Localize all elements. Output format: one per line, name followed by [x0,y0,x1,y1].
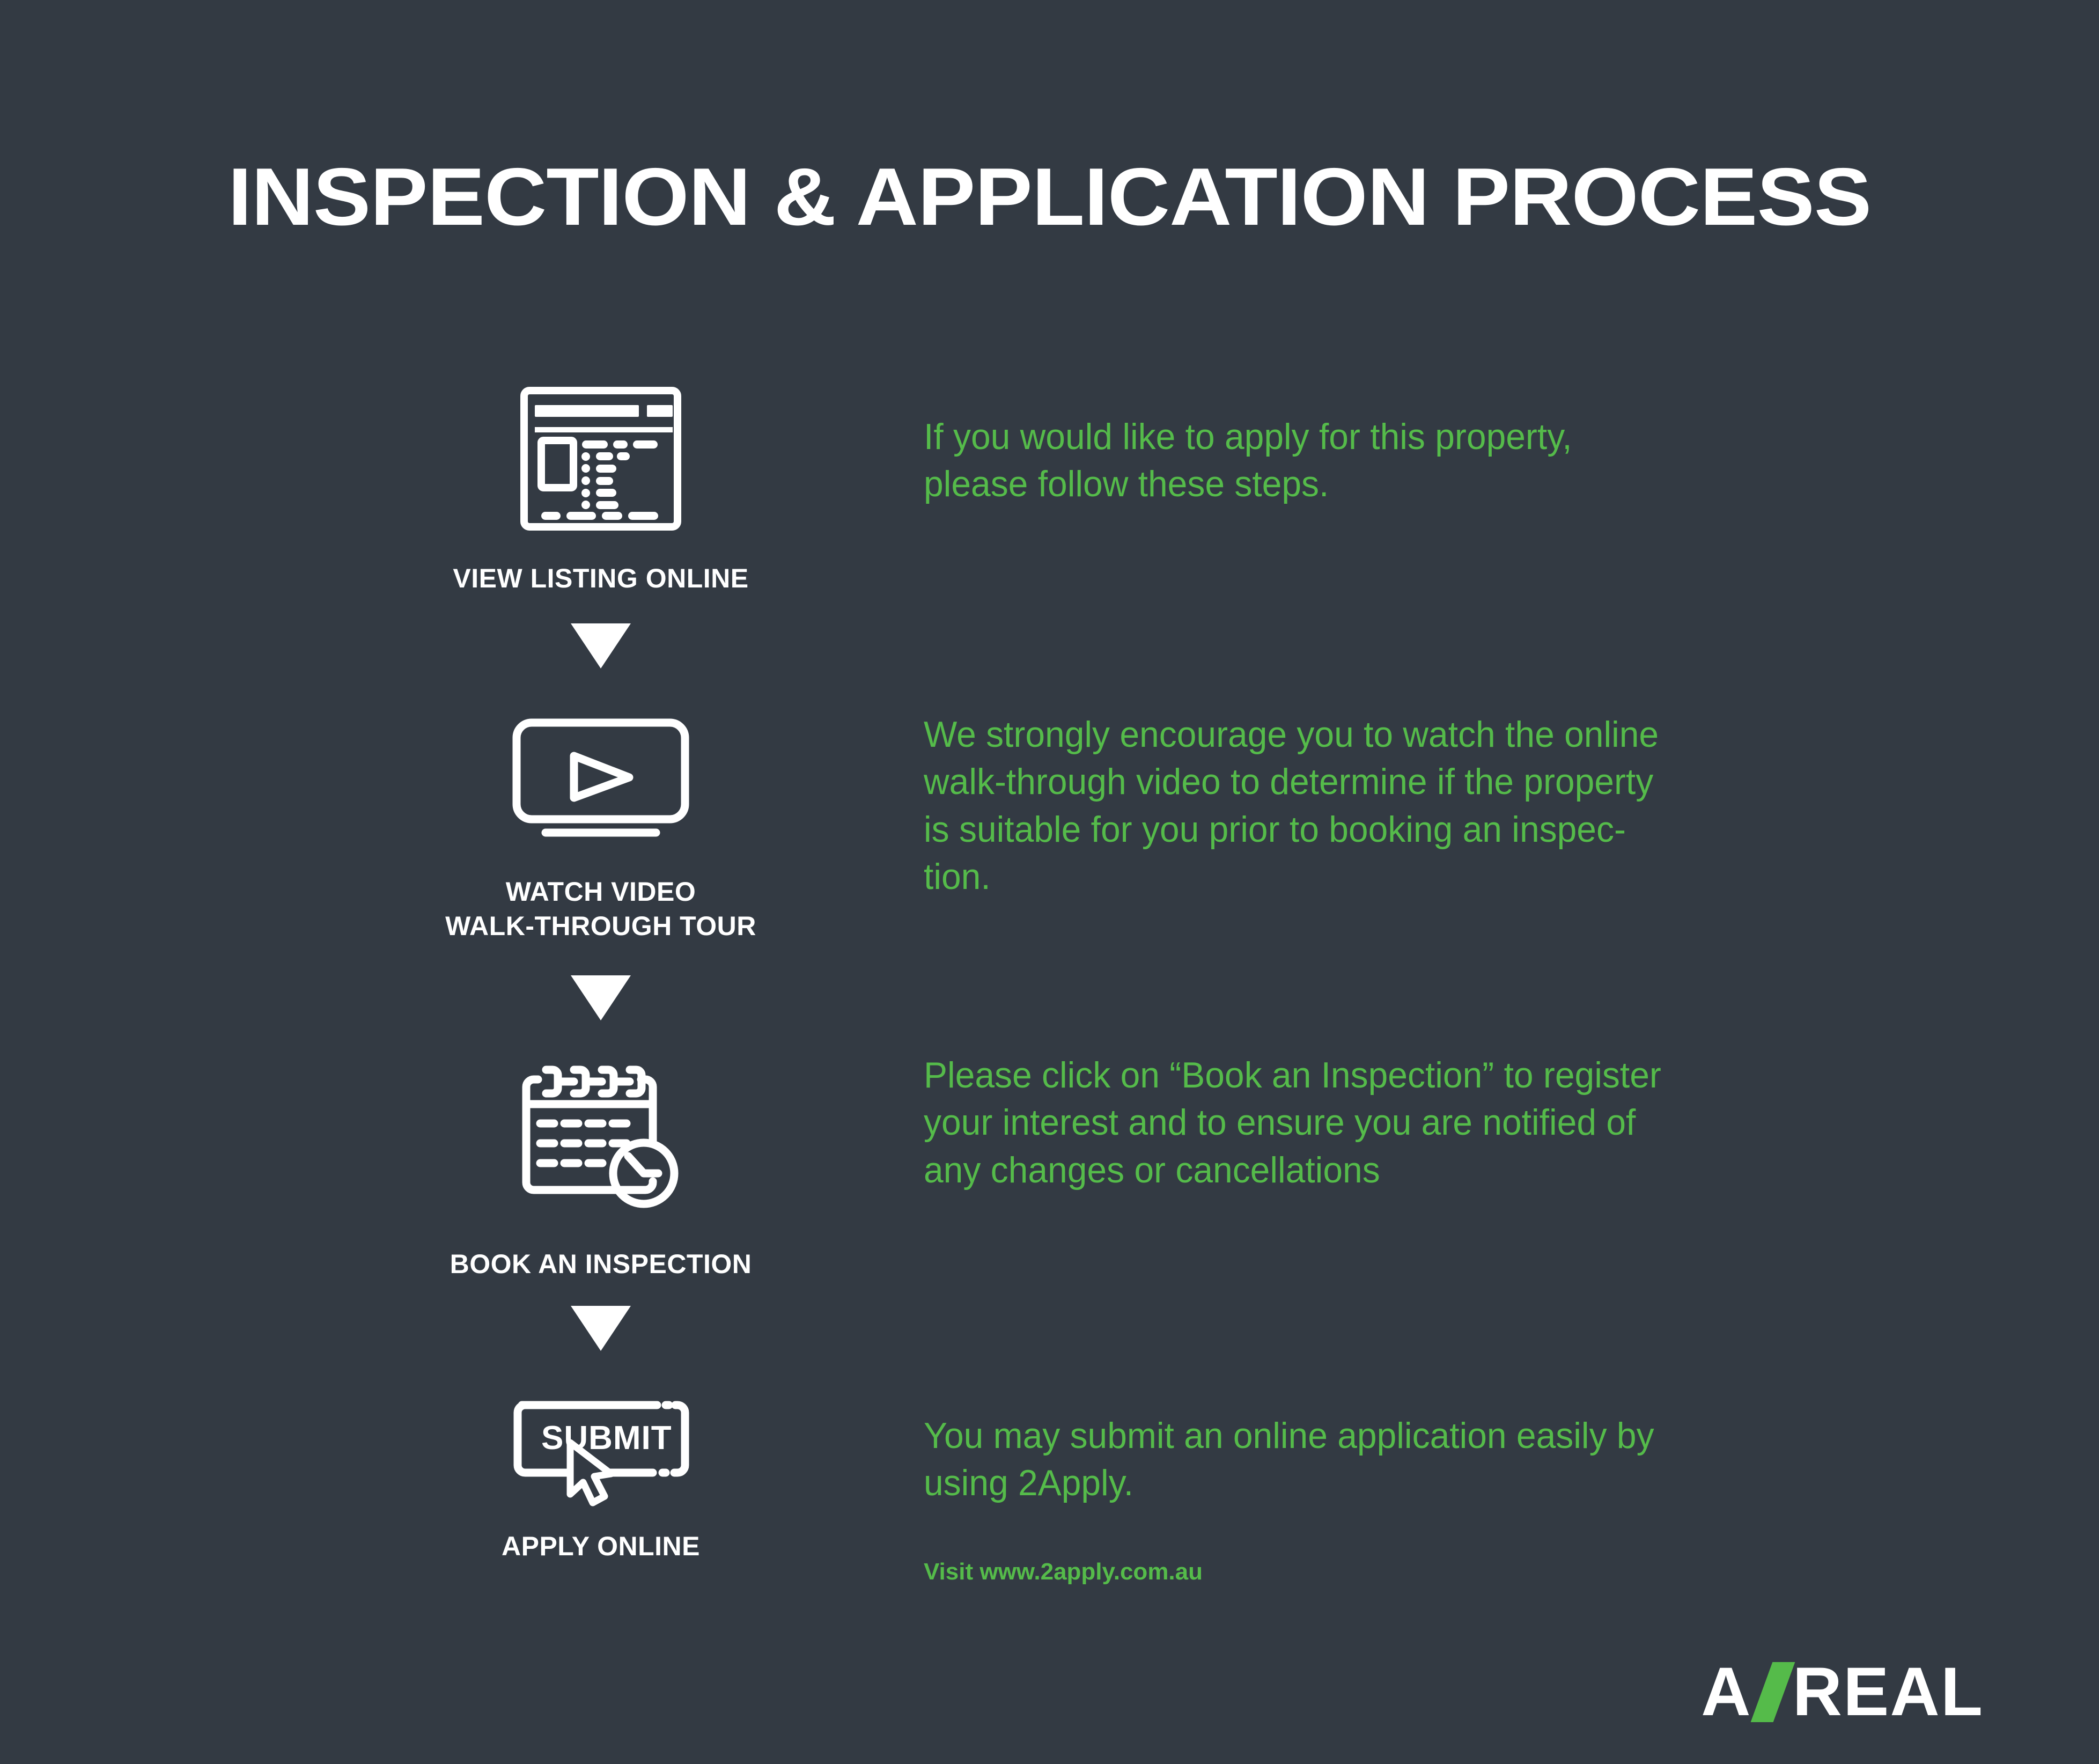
flow-arrow-2 [300,975,901,1020]
flow-arrow-3 [300,1306,901,1351]
process-flow-column: VIEW LISTING ONLINE WATCH VIDEO WALK-THR… [300,370,901,1563]
submit-button-cursor-icon: SUBMIT [300,1381,901,1515]
flow-arrow-1 [300,623,901,668]
page-title: INSPECTION & APPLICATION PROCESS [0,155,2099,240]
step-label-book-inspection: BOOK AN INSPECTION [300,1247,901,1281]
step-label-watch-video: WATCH VIDEO WALK-THROUGH TOUR [300,874,901,943]
visit-2apply-link[interactable]: Visit www.2apply.com.au [924,1559,1203,1585]
logo-word-real: REAL [1793,1658,1984,1726]
step-body-view-listing-online: If you would like to apply for this prop… [924,413,1902,508]
submit-icon-text: SUBMIT [541,1420,672,1457]
infographic-page: INSPECTION & APPLICATION PROCESS [0,0,2099,1764]
calendar-clock-icon [300,1044,901,1233]
step-book-inspection: BOOK AN INSPECTION [300,1044,901,1281]
step-body-apply-online: You may submit an online application eas… [924,1412,1876,1507]
video-play-monitor-icon [300,700,901,861]
step-body-book-inspection: Please click on “Book an Inspection” to … [924,1052,1876,1194]
step-label-view-listing-online: VIEW LISTING ONLINE [300,561,901,596]
step-watch-video: WATCH VIDEO WALK-THROUGH TOUR [300,700,901,943]
step-view-listing-online: VIEW LISTING ONLINE [300,370,901,596]
logo-letter-a: A [1701,1658,1751,1726]
logo-slash-icon [1750,1662,1795,1722]
areal-logo: A REAL [1701,1658,1984,1726]
browser-listing-icon [300,370,901,547]
step-body-watch-video: We strongly encourage you to watch the o… [924,711,1876,901]
step-label-apply-online: APPLY ONLINE [300,1529,901,1563]
step-apply-online: SUBMIT APPLY ONLINE [300,1381,901,1563]
